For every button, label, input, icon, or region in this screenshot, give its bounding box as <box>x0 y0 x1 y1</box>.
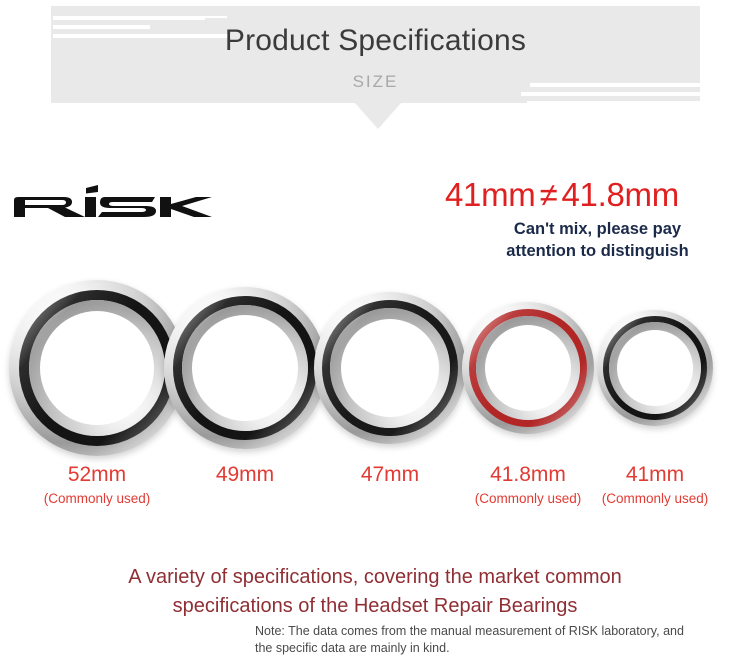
size-label-value: 52mm <box>22 462 172 488</box>
bearing-bore <box>341 319 439 417</box>
footer-note-line2: the specific data are mainly in kind. <box>255 640 725 657</box>
bearing-ring <box>462 302 594 434</box>
size-label-group: 49mm <box>170 462 320 488</box>
warning-subtext: Can't mix, please pay attention to disti… <box>455 219 740 263</box>
size-label-value: 49mm <box>170 462 320 488</box>
footer-note: Note: The data comes from the manual mea… <box>255 623 725 657</box>
header-banner: Product Specifications SIZE <box>0 0 750 140</box>
warning-subtext-line2: attention to distinguish <box>455 241 740 263</box>
size-label-row: 52mm(Commonly used)49mm47mm41.8mm(Common… <box>0 462 750 522</box>
bearing-bore <box>192 315 298 421</box>
size-label-value: 41mm <box>580 462 730 488</box>
accent-line-top-1 <box>53 16 205 20</box>
page-title: Product Specifications <box>51 24 700 58</box>
warning-size-right: 41.8mm <box>562 176 679 213</box>
bearing-ring <box>597 310 713 426</box>
size-label-group: 47mm <box>315 462 465 488</box>
footer-headline: A variety of specifications, covering th… <box>0 563 750 621</box>
size-label-note: (Commonly used) <box>580 490 730 508</box>
footer-headline-line2: specifications of the Headset Repair Bea… <box>0 592 750 621</box>
warning-subtext-line1: Can't mix, please pay <box>455 219 740 241</box>
accent-line-bottom-2 <box>521 92 700 96</box>
bearing-bore <box>485 325 571 411</box>
footer-headline-line1: A variety of specifications, covering th… <box>0 563 750 592</box>
footer-note-line1: Note: The data comes from the manual mea… <box>255 623 725 640</box>
accent-line-top-4 <box>201 16 227 18</box>
size-label-group: 52mm(Commonly used) <box>22 462 172 508</box>
size-label-note: (Commonly used) <box>22 490 172 508</box>
bearing-ring <box>314 292 466 444</box>
accent-line-bottom-3 <box>527 101 700 105</box>
banner-pointer-triangle <box>355 103 401 129</box>
warning-size-left: 41mm <box>445 176 536 213</box>
not-equal-icon: ≠ <box>536 176 562 214</box>
size-label-group: 41mm(Commonly used) <box>580 462 730 508</box>
bearing-ring <box>9 280 185 456</box>
bearing-bore <box>40 311 154 425</box>
size-mismatch-warning: 41mm≠41.8mm <box>445 176 745 214</box>
size-label-value: 47mm <box>315 462 465 488</box>
risk-brand-logo <box>10 178 215 228</box>
banner-subtitle: SIZE <box>51 72 700 92</box>
bearing-bore <box>617 330 693 406</box>
bearing-ring <box>164 287 326 449</box>
bearing-row <box>0 272 750 452</box>
